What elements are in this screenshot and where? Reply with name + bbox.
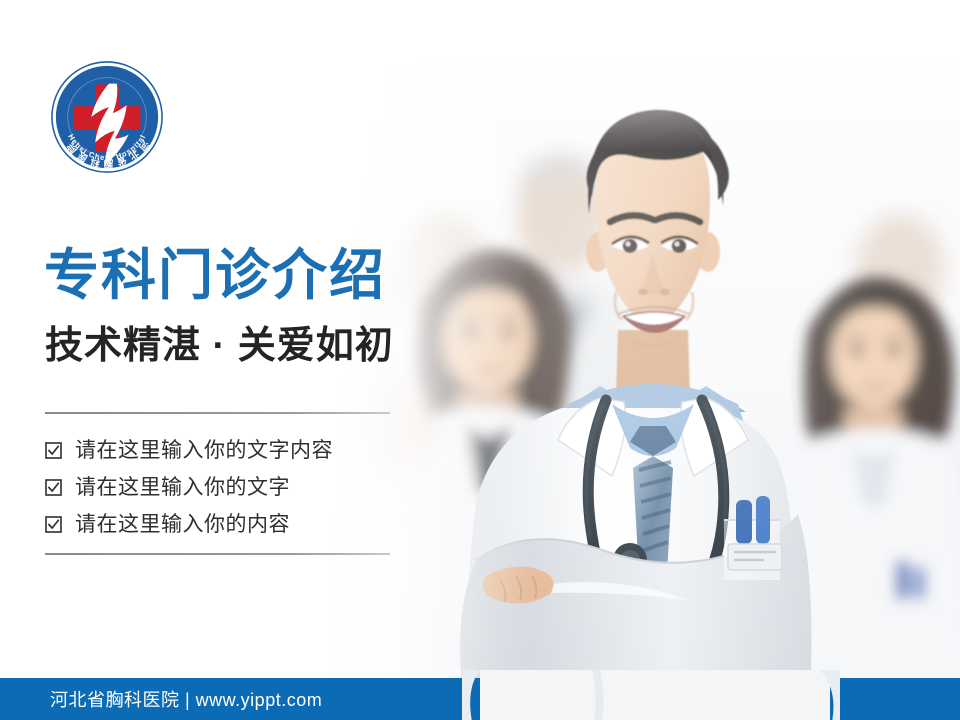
checked-box-icon <box>45 479 62 496</box>
checked-box-icon <box>45 516 62 533</box>
page-title: 专科门诊介绍 <box>44 248 386 303</box>
footer-caption: 河北省胸科医院 | www.yippt.com <box>50 678 322 720</box>
list-item: 请在这里输入你的文字 <box>45 469 445 505</box>
divider-top <box>45 412 390 414</box>
divider-bottom <box>45 553 390 555</box>
medical-team-photo <box>300 0 960 700</box>
slide-root: 河北省胸科医院 Hebei Chest Hospital 专科门诊介绍 技术精湛… <box>0 0 960 720</box>
list-item-label: 请在这里输入你的文字 <box>75 477 290 498</box>
checked-box-icon <box>45 442 62 459</box>
list-item: 请在这里输入你的文字内容 <box>45 432 445 468</box>
page-subtitle: 技术精湛 · 关爱如初 <box>45 327 394 365</box>
bullet-list: 请在这里输入你的文字内容 请在这里输入你的文字 请在这里输入你的内容 <box>45 432 445 543</box>
list-item-label: 请在这里输入你的内容 <box>75 514 290 535</box>
list-item-label: 请在这里输入你的文字内容 <box>75 440 333 461</box>
hospital-logo: 河北省胸科医院 Hebei Chest Hospital <box>48 58 166 176</box>
list-item: 请在这里输入你的内容 <box>45 506 445 542</box>
